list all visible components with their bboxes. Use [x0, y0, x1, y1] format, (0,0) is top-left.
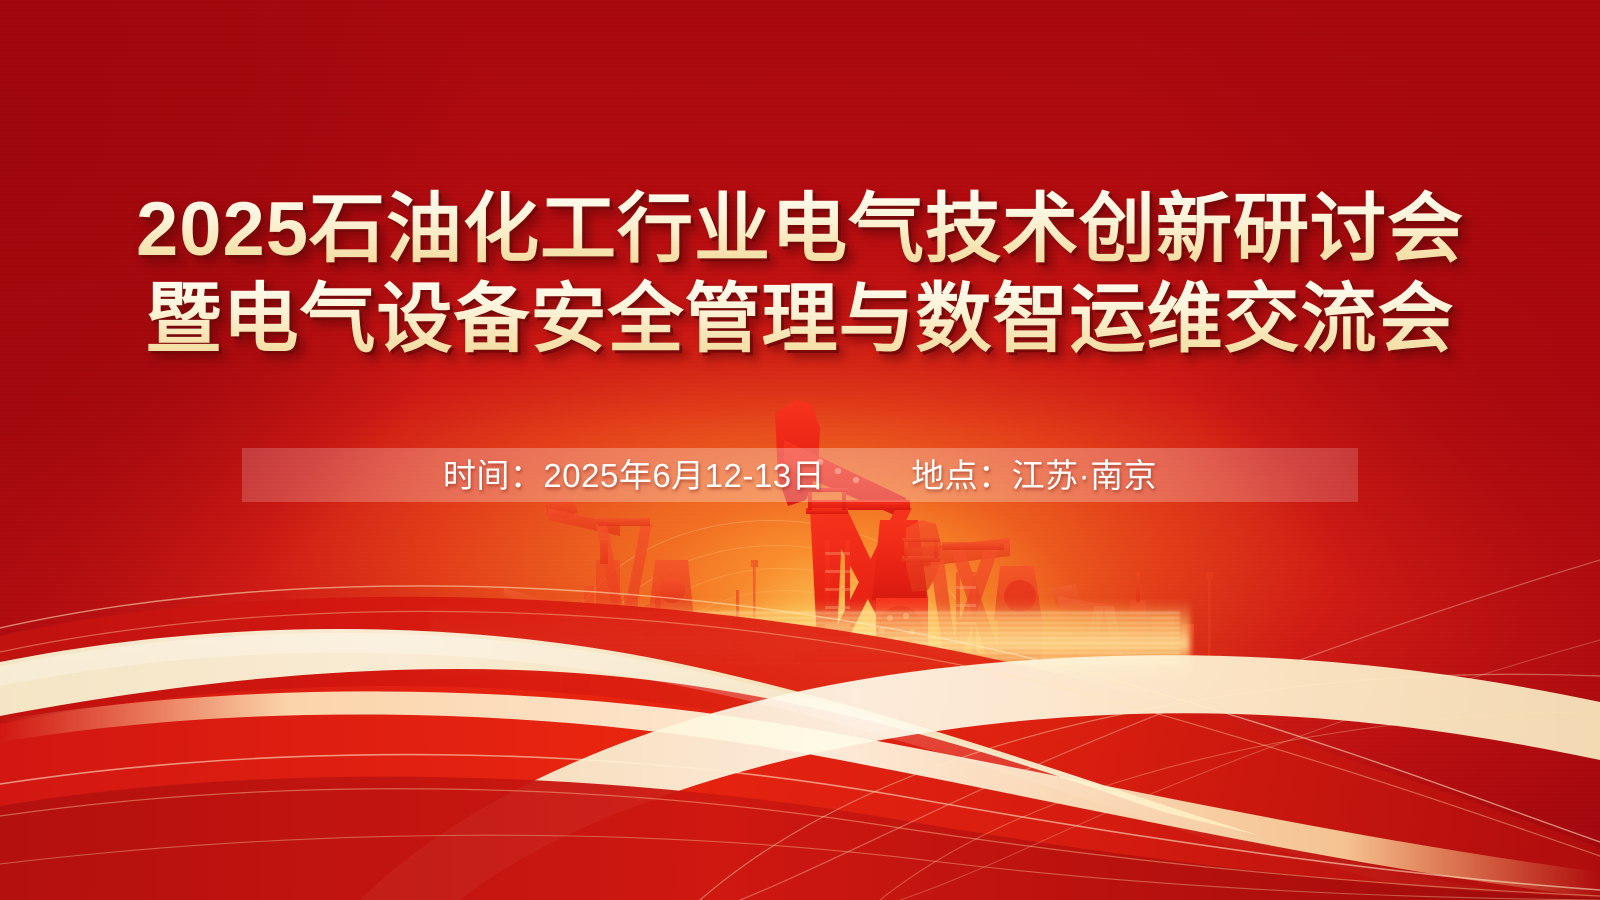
conference-poster: 2025石油化工行业电气技术创新研讨会 暨电气设备安全管理与数智运维交流会 时间…: [0, 0, 1600, 900]
event-location: 地点：江苏·南京: [911, 459, 1157, 492]
event-info-bar: 时间：2025年6月12-13日 地点：江苏·南京: [242, 448, 1358, 502]
event-date: 时间：2025年6月12-13日: [443, 459, 825, 492]
title-line-2: 暨电气设备安全管理与数智运维交流会: [0, 276, 1600, 364]
poster-title: 2025石油化工行业电气技术创新研讨会 暨电气设备安全管理与数智运维交流会: [0, 186, 1600, 364]
title-line-1: 2025石油化工行业电气技术创新研讨会: [0, 186, 1600, 274]
